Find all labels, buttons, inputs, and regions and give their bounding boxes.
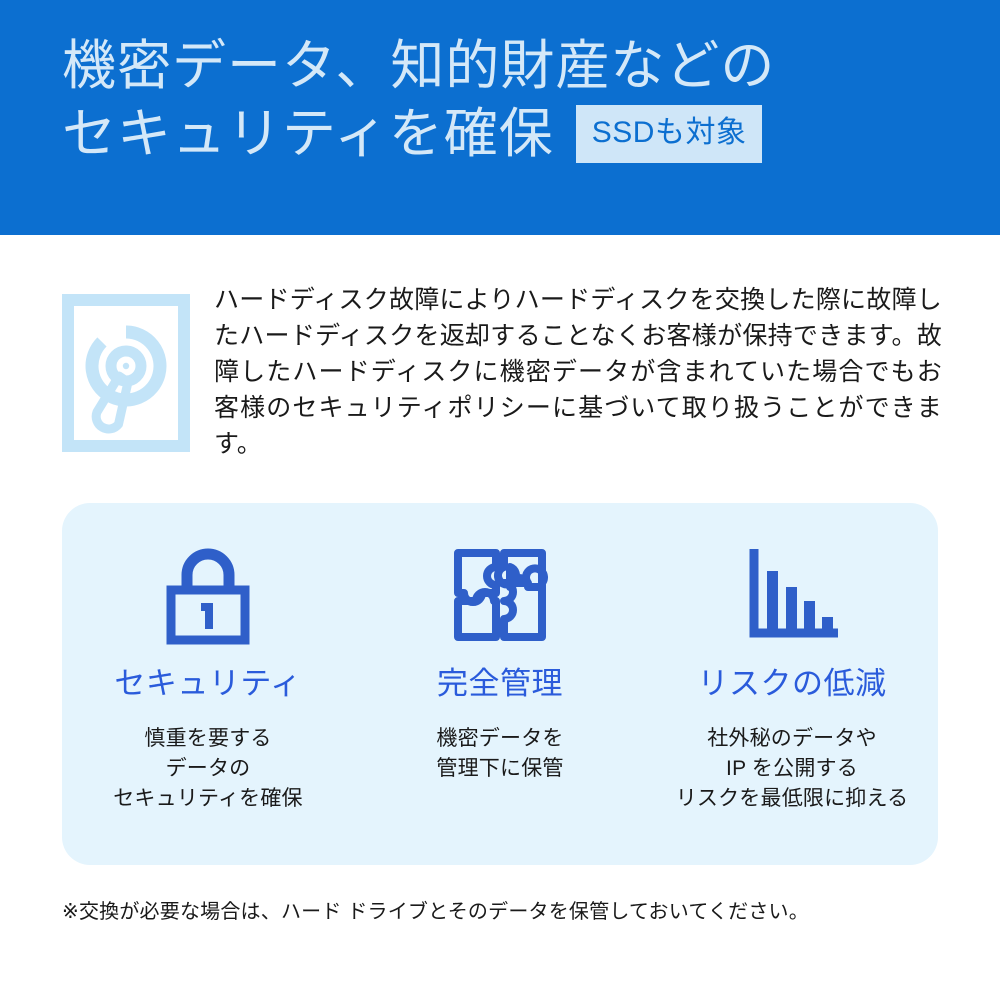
feature-card: セキュリティ 慎重を要する データの セキュリティを確保 完全管理 [62, 503, 938, 865]
feature-desc-line: 管理下に保管 [436, 754, 563, 784]
hard-disk-icon [62, 282, 192, 457]
feature-title-security: セキュリティ [114, 665, 301, 702]
feature-desc-security: 慎重を要する データの セキュリティを確保 [113, 724, 303, 814]
feature-desc-line: データの [113, 754, 303, 784]
feature-desc-line: 慎重を要する [113, 724, 303, 754]
page-root: 機密データ、知的財産などの セキュリティを確保 SSDも対象 ハードディスク故障… [0, 0, 1000, 1000]
feature-title-full-control: 完全管理 [437, 665, 563, 702]
header-banner: 機密データ、知的財産などの セキュリティを確保 SSDも対象 [0, 0, 1000, 235]
feature-desc-line: リスクを最低限に抑える [676, 784, 909, 814]
headline-line-2: セキュリティを確保 [62, 102, 554, 166]
feature-desc-line: IP を公開する [676, 754, 909, 784]
feature-desc-line: 機密データを [436, 724, 563, 754]
feature-title-risk-reduction: リスクの低減 [698, 665, 887, 702]
intro-paragraph: ハードディスク故障によりハードディスクを交換した際に故障したハードディスクを返却… [214, 282, 942, 462]
feature-desc-full-control: 機密データを 管理下に保管 [436, 724, 563, 784]
puzzle-icon [452, 541, 548, 649]
feature-full-control: 完全管理 機密データを 管理下に保管 [354, 503, 646, 865]
headline-line-1: 機密データ、知的財産などの [62, 32, 960, 100]
headline-row-2: セキュリティを確保 SSDも対象 [62, 102, 960, 166]
header-inner: 機密データ、知的財産などの セキュリティを確保 SSDも対象 [62, 32, 960, 166]
padlock-icon [162, 541, 254, 649]
feature-security: セキュリティ 慎重を要する データの セキュリティを確保 [62, 503, 354, 865]
footnote: ※交換が必要な場合は、ハード ドライブとそのデータを保管しておいてください。 [62, 898, 809, 926]
feature-desc-risk-reduction: 社外秘のデータや IP を公開する リスクを最低限に抑える [676, 724, 909, 814]
ssd-badge: SSDも対象 [576, 105, 763, 163]
feature-desc-line: 社外秘のデータや [676, 724, 909, 754]
intro-section: ハードディスク故障によりハードディスクを交換した際に故障したハードディスクを返却… [62, 282, 942, 462]
bar-chart-icon [746, 541, 838, 649]
feature-risk-reduction: リスクの低減 社外秘のデータや IP を公開する リスクを最低限に抑える [646, 503, 938, 865]
intro-paragraph-text: ハードディスク故障によりハードディスクを交換した際に故障したハードディスクを返却… [214, 282, 942, 462]
feature-desc-line: セキュリティを確保 [113, 784, 303, 814]
